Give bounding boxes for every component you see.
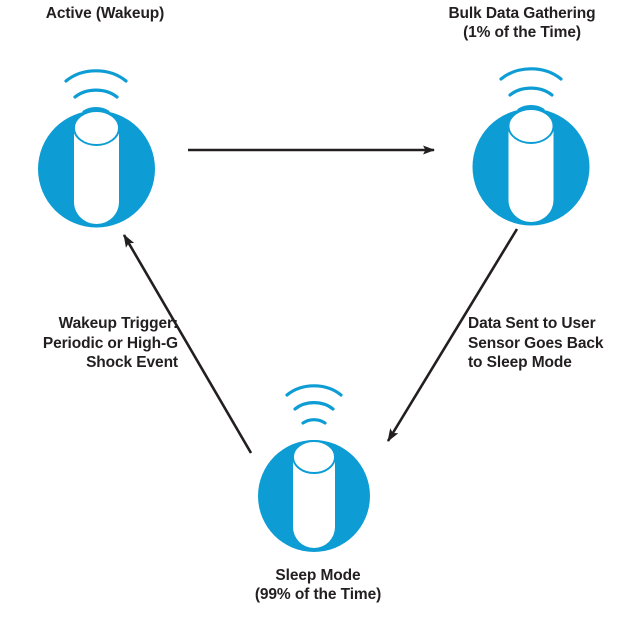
edge-label-wakeup-trigger: Wakeup Trigger: Periodic or High-G Shock… [8,314,178,373]
node-sleep-icon[interactable] [258,386,370,552]
wireless-waves-icon [287,386,341,423]
wireless-waves-icon [501,69,561,110]
diagram-canvas: Active (Wakeup) Bulk Data Gathering (1% … [0,0,624,620]
node-label-active: Active (Wakeup) [0,4,210,23]
node-bulk-icon[interactable] [473,69,590,226]
node-active-icon[interactable] [38,71,155,228]
wireless-waves-icon [66,71,126,112]
node-label-sleep-mode: Sleep Mode (99% of the Time) [232,566,404,604]
edge-label-data-sent-to-user: Data Sent to User Sensor Goes Back to Sl… [468,314,624,373]
node-icon-layer [0,0,624,620]
node-label-bulk-data-gathering: Bulk Data Gathering (1% of the Time) [420,4,624,42]
